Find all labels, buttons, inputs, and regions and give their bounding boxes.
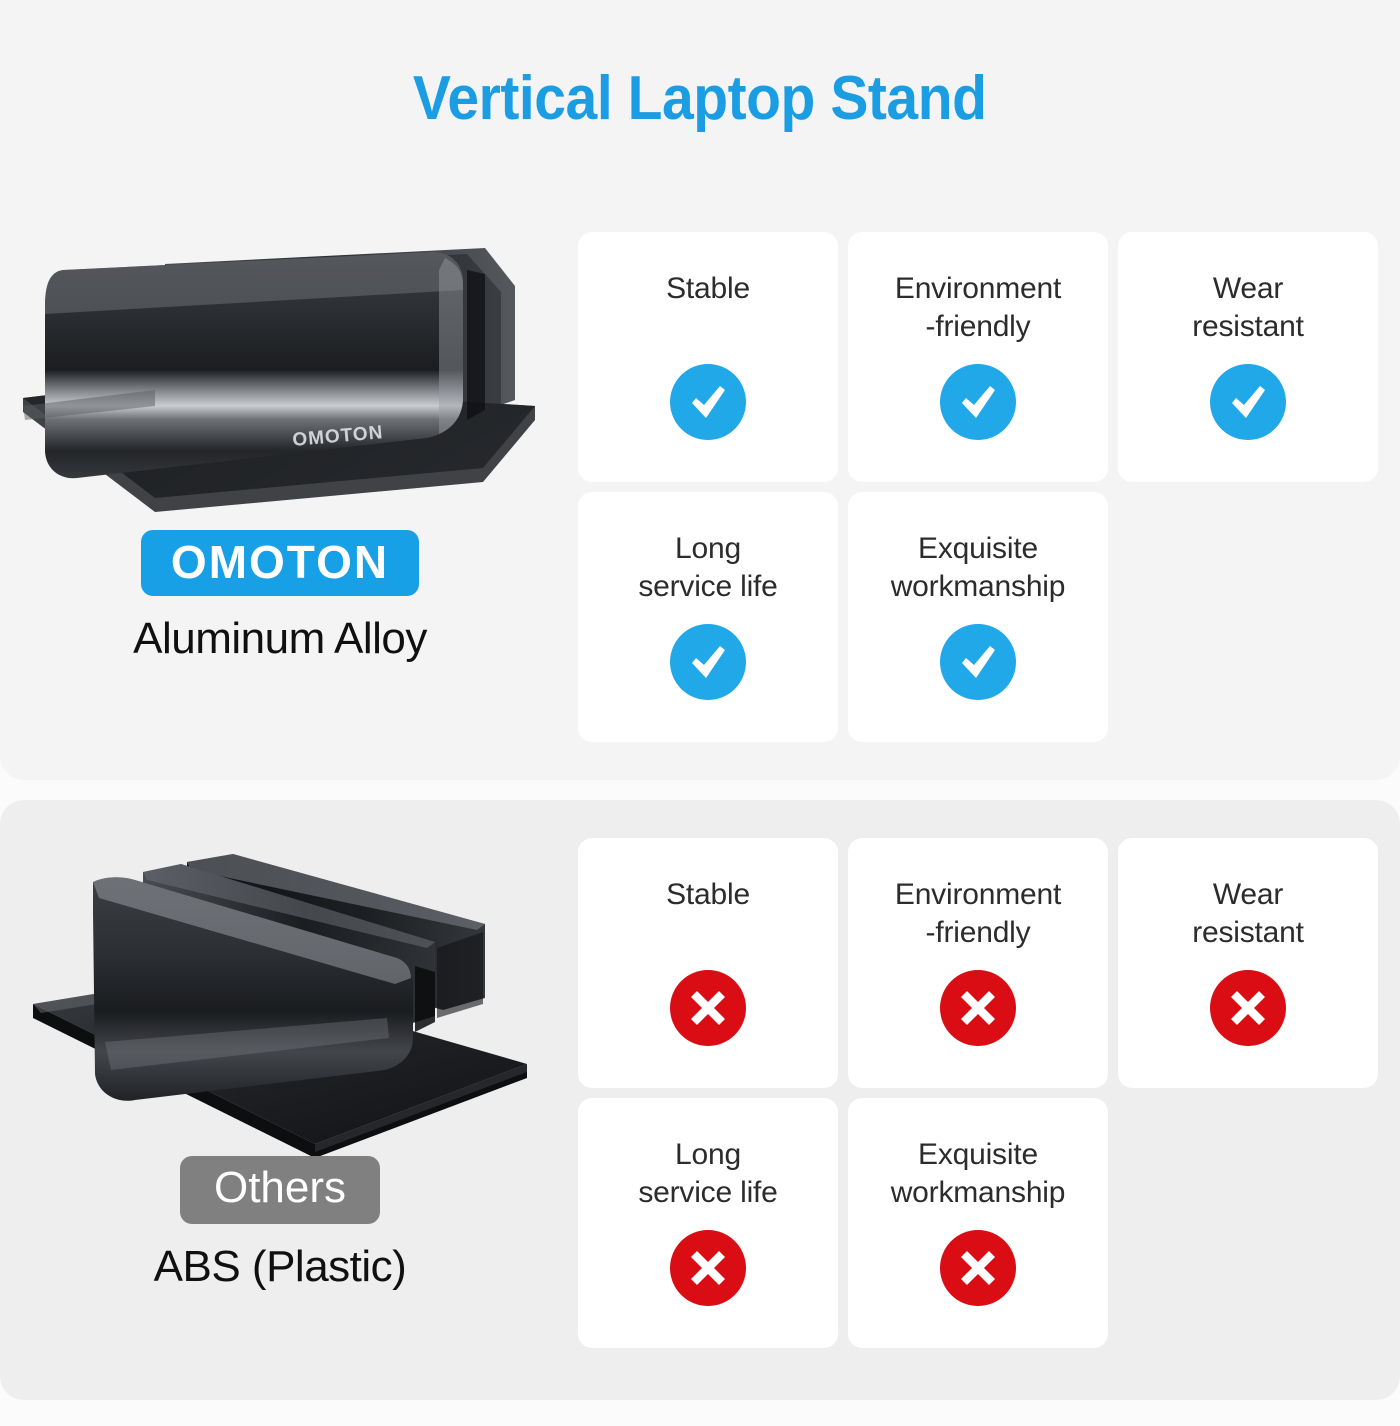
feature-row: Stable Environment -friendly Wear resist… [578, 838, 1378, 1088]
product-column-omoton: OMOTON OMOTON Aluminum Alloy [0, 196, 560, 814]
feature-card-wear-resistant[interactable]: Wear resistant [1118, 232, 1378, 482]
check-icon [670, 624, 746, 700]
feature-label: Long service life [638, 1136, 777, 1211]
product-image-plastic [15, 826, 545, 1156]
feature-label: Exquisite workmanship [891, 1136, 1066, 1211]
feature-label: Exquisite workmanship [891, 530, 1066, 605]
brand-badge-omoton: OMOTON [141, 530, 419, 596]
feature-card-exquisite-workmanship[interactable]: Exquisite workmanship [848, 492, 1108, 742]
feature-grid-omoton: Stable Environment -friendly Wear resist… [578, 232, 1378, 742]
cross-icon [670, 1230, 746, 1306]
feature-row: Long service life Exquisite workmanship [578, 492, 1378, 742]
feature-card-long-service-life[interactable]: Long service life [578, 1098, 838, 1348]
check-icon [1210, 364, 1286, 440]
cross-icon [1210, 970, 1286, 1046]
page-title: Vertical Laptop Stand [413, 63, 987, 134]
check-icon [940, 624, 1016, 700]
check-icon [940, 364, 1016, 440]
feature-card-wear-resistant[interactable]: Wear resistant [1118, 838, 1378, 1088]
material-label-omoton: Aluminum Alloy [133, 614, 427, 664]
product-column-others: Others ABS (Plastic) [0, 800, 560, 1426]
feature-card-exquisite-workmanship[interactable]: Exquisite workmanship [848, 1098, 1108, 1348]
cross-icon [940, 970, 1016, 1046]
material-label-others: ABS (Plastic) [154, 1242, 407, 1292]
feature-card-environment-friendly[interactable]: Environment -friendly [848, 838, 1108, 1088]
cross-icon [670, 970, 746, 1046]
feature-label: Stable [666, 270, 750, 308]
section-others: Others ABS (Plastic) Stable Environment … [0, 800, 1400, 1400]
feature-row: Long service life Exquisite workmanship [578, 1098, 1378, 1348]
feature-card-long-service-life[interactable]: Long service life [578, 492, 838, 742]
cross-icon [940, 1230, 1016, 1306]
feature-label: Long service life [638, 530, 777, 605]
feature-card-stable[interactable]: Stable [578, 838, 838, 1088]
feature-card-stable[interactable]: Stable [578, 232, 838, 482]
feature-label: Environment -friendly [895, 270, 1061, 345]
feature-grid-others: Stable Environment -friendly Wear resist… [578, 838, 1378, 1348]
product-image-aluminum: OMOTON [15, 230, 545, 530]
feature-row: Stable Environment -friendly Wear resist… [578, 232, 1378, 482]
title-bar: Vertical Laptop Stand [0, 0, 1400, 196]
brand-badge-others: Others [180, 1156, 380, 1224]
feature-card-environment-friendly[interactable]: Environment -friendly [848, 232, 1108, 482]
feature-label: Environment -friendly [895, 876, 1061, 951]
feature-label: Wear resistant [1192, 270, 1304, 345]
section-omoton: OMOTON OMOTON Aluminum Alloy Stable Envi… [0, 196, 1400, 780]
feature-label: Wear resistant [1192, 876, 1304, 951]
check-icon [670, 364, 746, 440]
feature-label: Stable [666, 876, 750, 914]
